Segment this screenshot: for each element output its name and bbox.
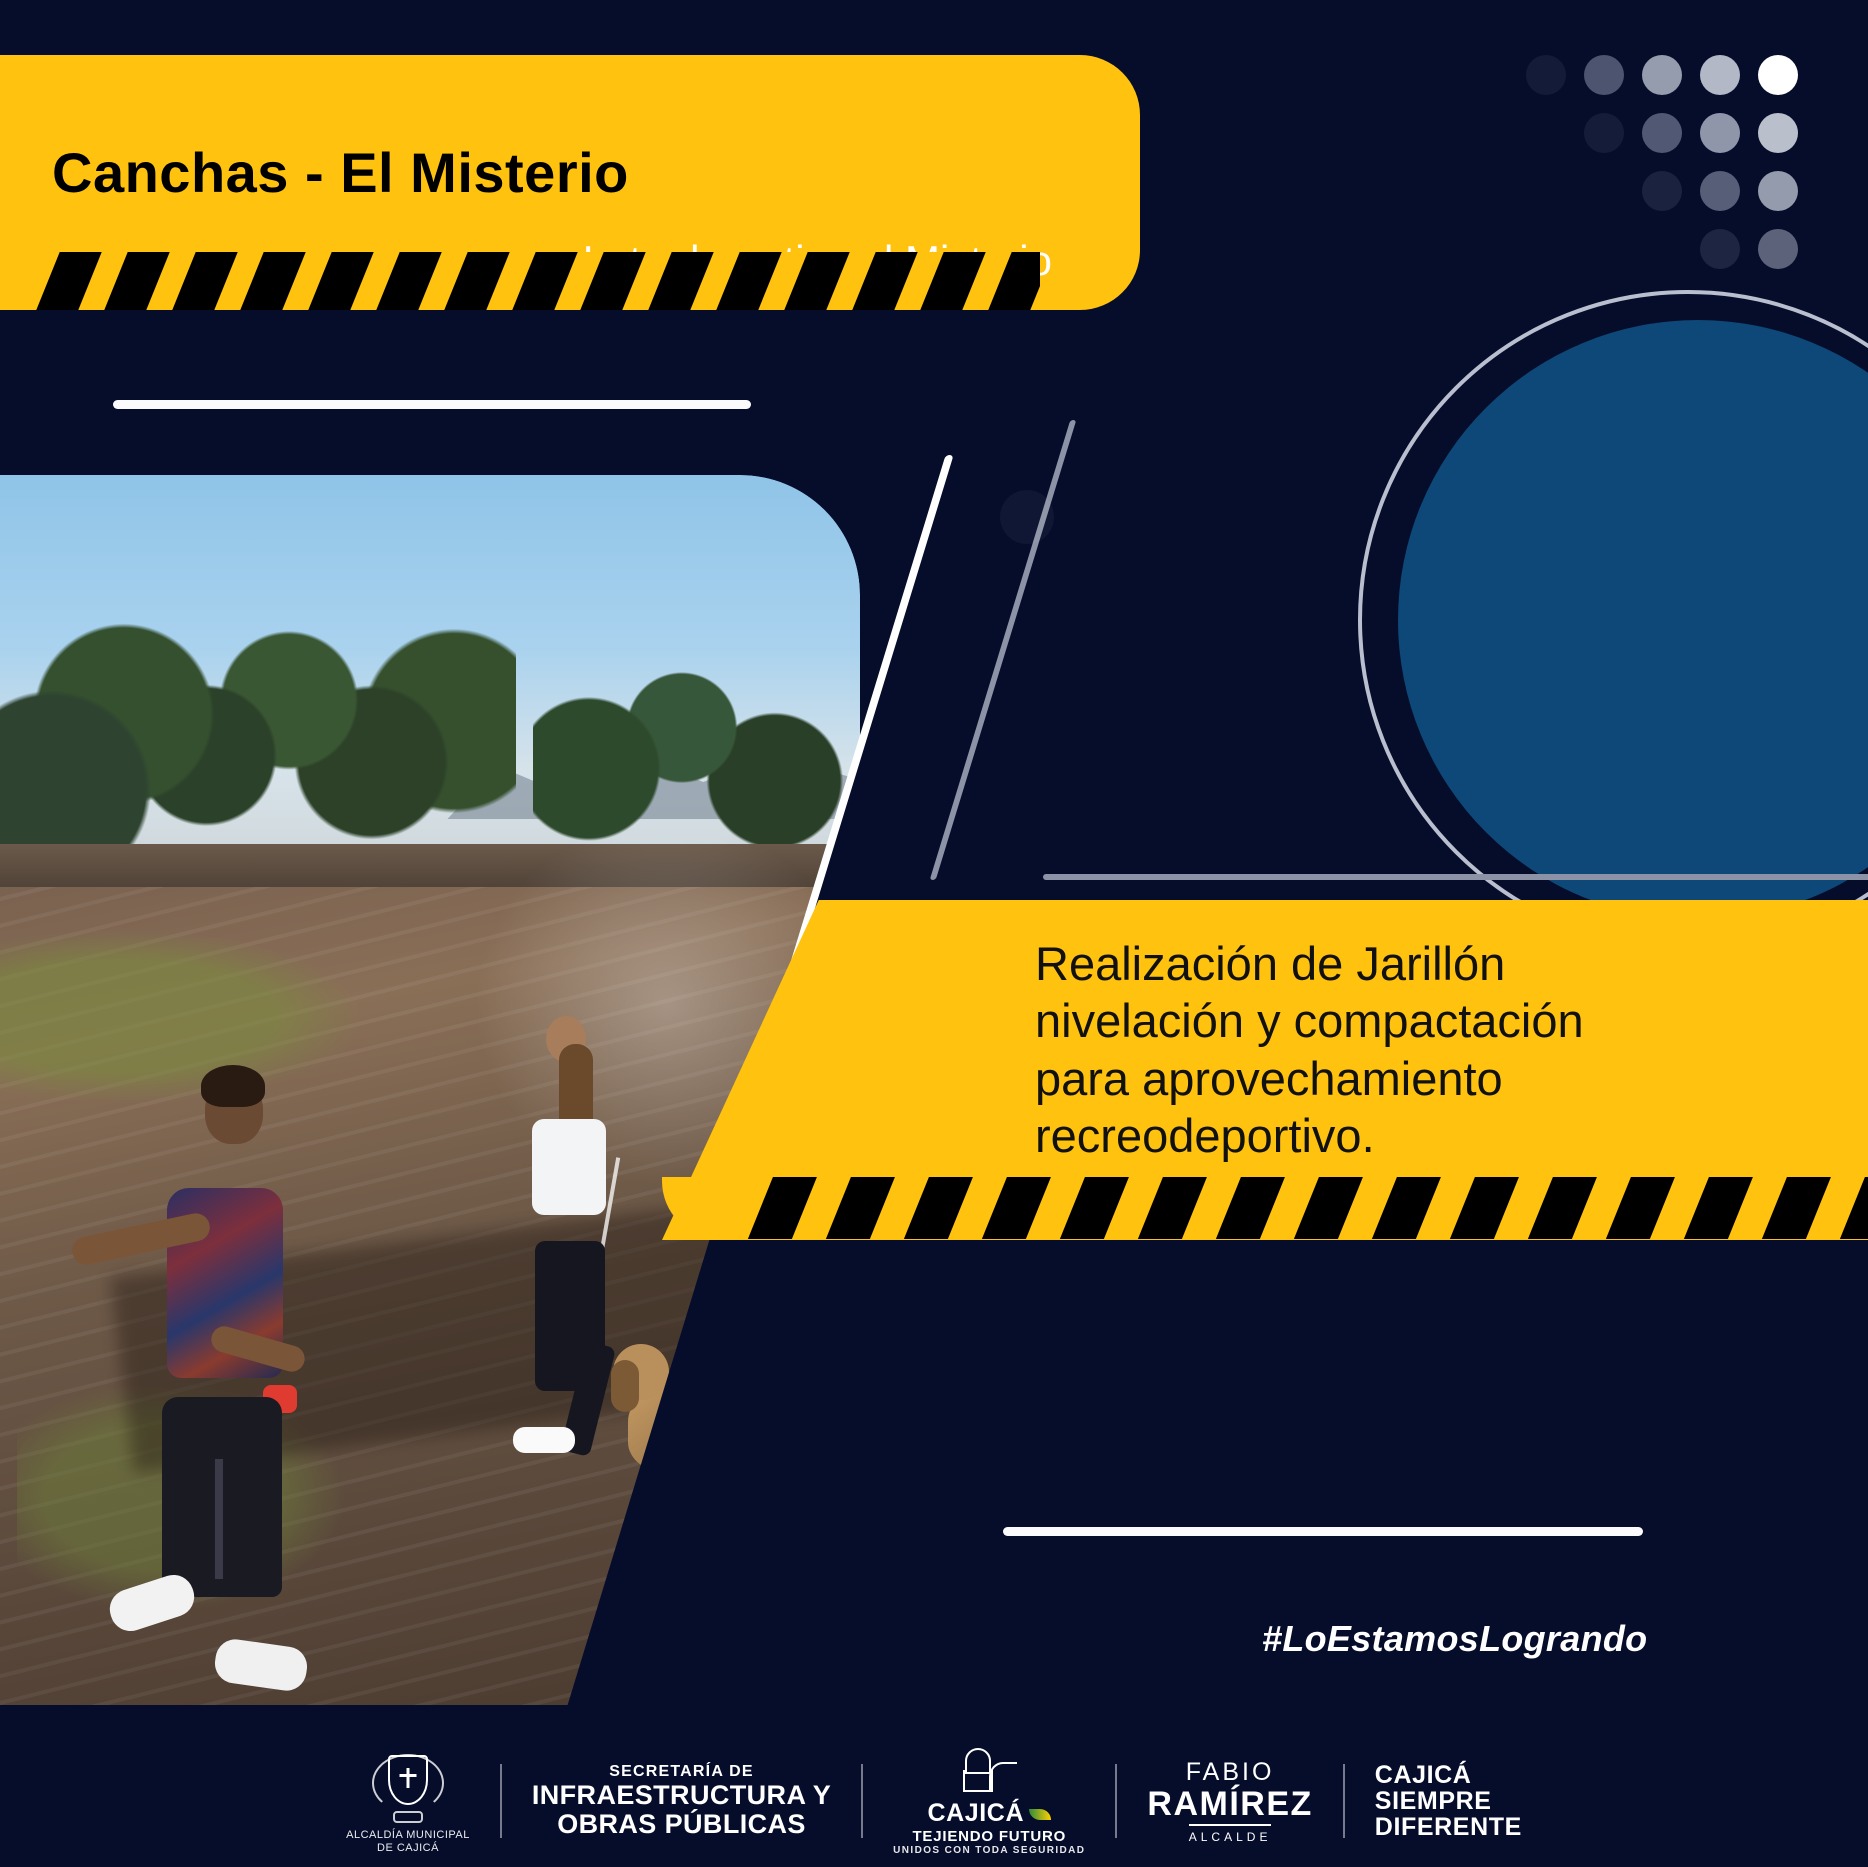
cajica-tagline: TEJIENDO FUTURO <box>912 1828 1066 1845</box>
boy-hair <box>201 1065 265 1107</box>
grid-dot <box>1700 113 1740 153</box>
grid-dot <box>1758 171 1798 211</box>
grid-dot <box>1758 113 1798 153</box>
hazard-bar <box>1834 1177 1868 1239</box>
cajica-tagline-secondary: UNIDOS CON TODA SEGURIDAD <box>893 1845 1085 1856</box>
boy-leg-seam <box>215 1459 223 1579</box>
crest-base-icon <box>393 1811 423 1823</box>
faint-dot-decoration <box>1000 490 1054 544</box>
grid-dot <box>1642 229 1682 269</box>
hazard-bar <box>1444 1177 1524 1239</box>
hazard-stripe-top <box>0 252 1040 310</box>
hazard-bar <box>1366 1177 1446 1239</box>
hazard-bar <box>643 252 718 310</box>
dog <box>611 1311 723 1582</box>
hazard-bar <box>1678 1177 1758 1239</box>
grid-dot <box>1526 171 1566 211</box>
woman-shirt <box>532 1119 606 1215</box>
dog-body <box>628 1387 738 1473</box>
hazard-bar <box>1210 1177 1290 1239</box>
logo-cajica-tejiendo-futuro: CAJICÁ TEJIENDO FUTURO UNIDOS CON TODA S… <box>863 1746 1115 1856</box>
alcalde-role: ALCALDE <box>1189 1824 1272 1844</box>
hazard-bar <box>1522 1177 1602 1239</box>
dog-legs <box>635 1528 713 1590</box>
secretaria-line2: OBRAS PÚBLICAS <box>557 1810 806 1839</box>
header-banner: Canchas - El Misterio Lote deportivo el … <box>0 55 1140 310</box>
leaf-icon <box>1029 1809 1051 1820</box>
church-roof-icon <box>989 1762 1017 1792</box>
slogan-line3: DIFERENTE <box>1375 1814 1522 1840</box>
hazard-bar <box>167 252 242 310</box>
poster-canvas: Canchas - El Misterio Lote deportivo el … <box>0 0 1868 1867</box>
alcaldia-line1: ALCALDÍA MUNICIPAL <box>346 1829 470 1842</box>
hazard-bar <box>983 252 1040 310</box>
grid-dot <box>1700 55 1740 95</box>
logo-alcaldia: ALCALDÍA MUNICIPAL DE CAJICÁ <box>316 1747 500 1854</box>
grid-dot <box>1526 229 1566 269</box>
project-photo <box>0 475 860 1705</box>
hazard-bar <box>898 1177 978 1239</box>
hazard-bar <box>1132 1177 1212 1239</box>
cajica-name: CAJICÁ <box>927 1799 1024 1827</box>
hazard-bar <box>976 1177 1056 1239</box>
hazard-bar <box>1054 1177 1134 1239</box>
logo-secretaria: SECRETARÍA DE INFRAESTRUCTURA Y OBRAS PÚ… <box>502 1763 861 1839</box>
coat-of-arms-icon <box>371 1747 445 1825</box>
description-text: Realización de Jarillón nivelación y com… <box>1035 935 1845 1164</box>
hazard-bar <box>303 252 378 310</box>
grid-dot <box>1642 171 1682 211</box>
grid-dot <box>1700 171 1740 211</box>
grid-dot <box>1584 171 1624 211</box>
cross-icon <box>406 1768 409 1788</box>
grid-dot <box>1700 229 1740 269</box>
hazard-bar <box>1600 1177 1680 1239</box>
secretaria-prefix: SECRETARÍA DE <box>609 1763 754 1781</box>
boy-running <box>95 1065 336 1680</box>
tree-line-left <box>0 549 516 893</box>
alcaldia-line2: DE CAJICÁ <box>346 1842 470 1855</box>
campaign-hashtag: #LoEstamosLogrando <box>1262 1618 1647 1660</box>
hazard-bar <box>31 252 106 310</box>
boy-shoe-left <box>105 1570 200 1637</box>
hazard-stripe-bottom <box>700 1177 1868 1239</box>
hazard-bar <box>779 252 854 310</box>
hazard-bar <box>439 252 514 310</box>
hazard-bar <box>820 1177 900 1239</box>
grid-dot <box>1526 55 1566 95</box>
grid-dot <box>1526 113 1566 153</box>
church-icon <box>959 1746 1019 1796</box>
photo-clip <box>0 475 860 1705</box>
grid-dot <box>1758 229 1798 269</box>
grid-dot <box>1642 55 1682 95</box>
hazard-bar <box>371 252 446 310</box>
woman-shoe <box>513 1427 575 1453</box>
alcalde-last-name: RAMÍREZ <box>1147 1787 1312 1821</box>
grid-dot <box>1758 55 1798 95</box>
divider-rule-lower <box>1003 1527 1643 1536</box>
hazard-bar <box>711 252 786 310</box>
hazard-bar <box>1756 1177 1836 1239</box>
chevron-line-gray <box>930 420 1077 880</box>
grid-dot <box>1642 113 1682 153</box>
hazard-bar <box>1288 1177 1368 1239</box>
hazard-bar <box>915 252 990 310</box>
dog-ear <box>611 1360 639 1412</box>
chevron-line-gray-horizontal <box>1043 874 1868 880</box>
grid-dot <box>1584 55 1624 95</box>
grid-dot <box>1584 229 1624 269</box>
hazard-bar <box>507 252 582 310</box>
slogan-line2: SIEMPRE <box>1375 1788 1522 1814</box>
secretaria-line1: INFRAESTRUCTURA Y <box>532 1781 831 1810</box>
slogan-line1: CAJICÁ <box>1375 1762 1522 1788</box>
page-title: Canchas - El Misterio <box>52 140 629 205</box>
footer-logo-bar: ALCALDÍA MUNICIPAL DE CAJICÁ SECRETARÍA … <box>0 1735 1868 1867</box>
hazard-bar <box>575 252 650 310</box>
hazard-bar <box>235 252 310 310</box>
logo-alcalde: FABIO RAMÍREZ ALCALDE <box>1117 1758 1342 1844</box>
hazard-bar <box>847 252 922 310</box>
hazard-bar <box>742 1177 822 1239</box>
divider-rule-top <box>113 400 751 409</box>
logo-slogan: CAJICÁ SIEMPRE DIFERENTE <box>1345 1762 1552 1841</box>
photo-content <box>0 475 860 1705</box>
hazard-bar <box>99 252 174 310</box>
grid-dot <box>1584 113 1624 153</box>
alcalde-first-name: FABIO <box>1186 1758 1275 1787</box>
